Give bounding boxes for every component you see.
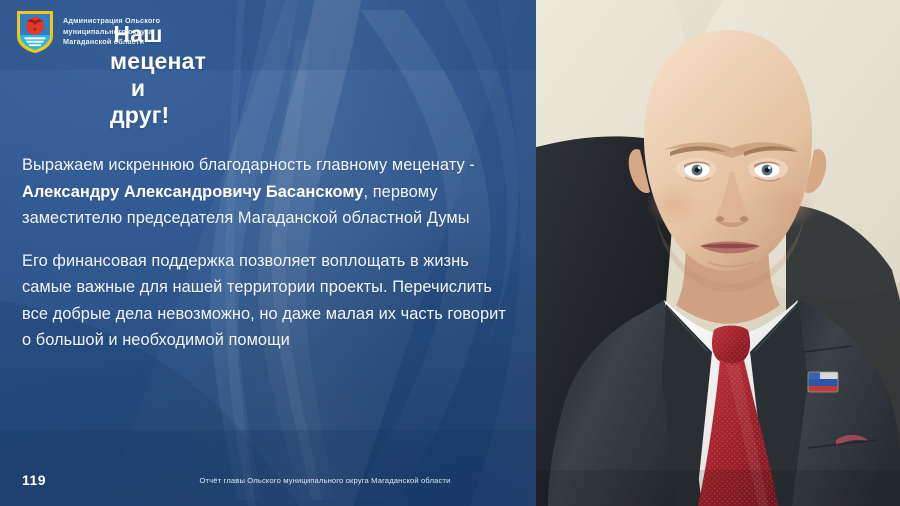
- benefactor-portrait-photo: [536, 0, 900, 506]
- paragraph-gratitude: Выражаем искреннюю благодарность главном…: [22, 152, 517, 232]
- slide-title: Наш меценат и друг!: [0, 21, 536, 129]
- page-number: 119: [22, 472, 46, 488]
- lapel-pin-badge: [808, 372, 838, 392]
- body-text-block: Выражаем искреннюю благодарность главном…: [22, 152, 517, 354]
- benefactor-name: Александру Александровичу Басанскому: [22, 183, 364, 201]
- presentation-slide: Администрация Ольского муниципального ок…: [0, 0, 900, 506]
- paragraph-1-lead: Выражаем искреннюю благодарность главном…: [22, 156, 475, 174]
- footer-report-title: Отчёт главы Ольского муниципального окру…: [130, 476, 520, 485]
- left-content-panel: Администрация Ольского муниципального ок…: [0, 0, 536, 506]
- paragraph-support: Его финансовая поддержка позволяет вопло…: [22, 248, 517, 354]
